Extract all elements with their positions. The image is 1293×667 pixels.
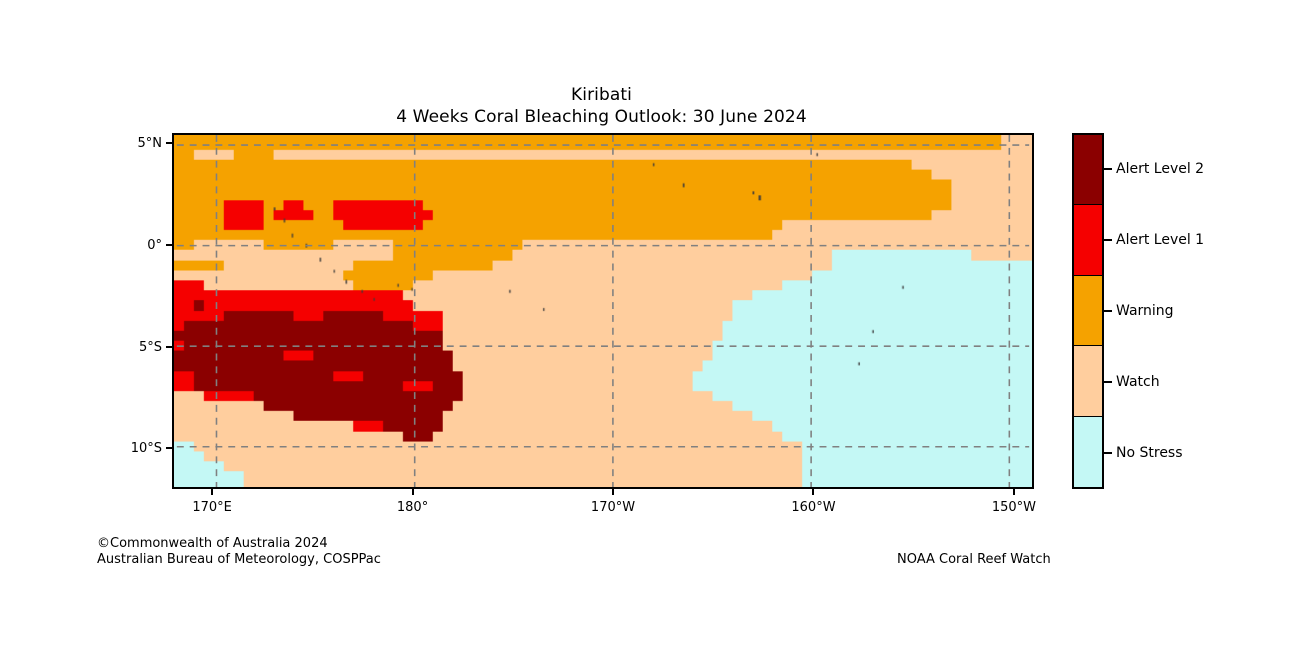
legend-swatch-alert-level-2[interactable] xyxy=(1074,135,1102,205)
legend-tick-0 xyxy=(1104,168,1112,170)
footer-source: NOAA Coral Reef Watch xyxy=(897,552,1051,568)
legend-tick-1 xyxy=(1104,239,1112,241)
x-tick-mark-1 xyxy=(412,489,414,495)
y-tick-label-2: 5°S xyxy=(102,341,162,354)
coral-bleaching-outlook-figure: Kiribati 4 Weeks Coral Bleaching Outlook… xyxy=(0,0,1293,667)
page-title: Kiribati xyxy=(0,84,1203,106)
legend-swatch-warning[interactable] xyxy=(1074,276,1102,346)
chart-title-block: Kiribati 4 Weeks Coral Bleaching Outlook… xyxy=(0,84,1203,128)
legend-tick-2 xyxy=(1104,310,1112,312)
x-tick-mark-3 xyxy=(812,489,814,495)
legend-label-alert-level-1: Alert Level 1 xyxy=(1116,233,1204,247)
legend-label-watch: Watch xyxy=(1116,375,1160,389)
x-tick-label-1: 180° xyxy=(368,501,458,514)
footer-agency: Australian Bureau of Meteorology, COSPPa… xyxy=(97,552,381,568)
x-tick-label-3: 160°W xyxy=(768,501,858,514)
legend-tick-4 xyxy=(1104,452,1112,454)
y-tick-mark-0 xyxy=(166,142,172,144)
x-tick-label-4: 150°W xyxy=(969,501,1059,514)
footer-copyright: ©Commonwealth of Australia 2024 xyxy=(97,536,381,552)
footer-attribution: ©Commonwealth of Australia 2024 Australi… xyxy=(97,536,381,568)
y-tick-label-3: 10°S xyxy=(102,442,162,455)
legend-label-alert-level-2: Alert Level 2 xyxy=(1116,162,1204,176)
x-tick-mark-0 xyxy=(211,489,213,495)
x-tick-mark-4 xyxy=(1013,489,1015,495)
legend-tick-3 xyxy=(1104,381,1112,383)
x-tick-label-0: 170°E xyxy=(167,501,257,514)
y-tick-mark-2 xyxy=(166,346,172,348)
y-tick-label-0: 5°N xyxy=(102,137,162,150)
map-plot-area xyxy=(172,133,1034,489)
y-tick-mark-3 xyxy=(166,447,172,449)
x-tick-mark-2 xyxy=(612,489,614,495)
chart-subtitle: 4 Weeks Coral Bleaching Outlook: 30 June… xyxy=(0,106,1203,128)
legend-label-no-stress: No Stress xyxy=(1116,446,1183,460)
y-tick-label-1: 0° xyxy=(102,239,162,252)
y-tick-mark-1 xyxy=(166,244,172,246)
bleaching-heatmap-raster xyxy=(174,135,1032,487)
legend-swatch-watch[interactable] xyxy=(1074,346,1102,416)
legend-label-warning: Warning xyxy=(1116,304,1174,318)
legend-swatch-alert-level-1[interactable] xyxy=(1074,205,1102,275)
legend-swatch-no-stress[interactable] xyxy=(1074,417,1102,487)
x-tick-label-2: 170°W xyxy=(568,501,658,514)
legend-colorbar xyxy=(1072,133,1104,489)
